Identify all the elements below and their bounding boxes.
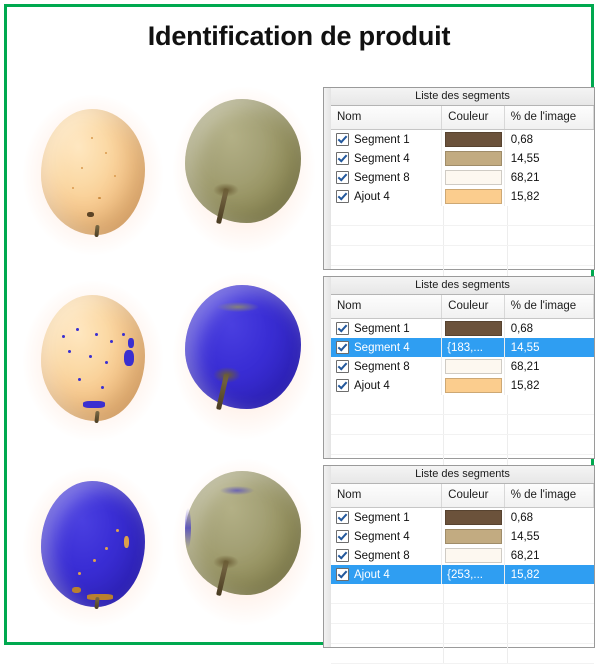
- color-swatch: [445, 132, 502, 147]
- row-name-cell: Segment 8: [331, 546, 442, 565]
- page-title: Identification de produit: [7, 21, 591, 52]
- table-empty-area: [331, 395, 594, 475]
- row-color-cell[interactable]: [442, 376, 505, 395]
- column-header-name[interactable]: Nom: [331, 484, 442, 507]
- residual-speck: [116, 529, 119, 532]
- panel-1[interactable]: Liste des segments Nom Couleur % de l'im…: [323, 87, 595, 270]
- color-value-text: {253,...: [442, 569, 483, 581]
- empty-row: [331, 395, 594, 415]
- blue-edge-patch: [185, 508, 191, 548]
- fruit-stage: [15, 79, 315, 265]
- row-percent-cell: 15,82: [505, 376, 594, 395]
- checkbox-checked-icon[interactable]: [336, 171, 349, 184]
- empty-row: [331, 584, 594, 604]
- color-swatch: [445, 359, 502, 374]
- apple-speck: [114, 175, 116, 177]
- row-percent-cell: 0,68: [505, 130, 594, 149]
- percent-value: 68,21: [505, 172, 540, 184]
- row-color-cell[interactable]: [442, 319, 505, 338]
- percent-value: 0,68: [505, 323, 533, 335]
- color-value-text: {183,...: [442, 342, 483, 354]
- row-name-cell: Segment 1: [331, 508, 442, 527]
- blue-speck: [220, 486, 254, 495]
- empty-row: [331, 624, 594, 644]
- segment-name: Ajout 4: [354, 380, 390, 392]
- percent-value: 68,21: [505, 361, 540, 373]
- segmentation-image-column: [15, 79, 315, 637]
- column-header-color[interactable]: Couleur: [442, 484, 505, 507]
- apple-speck: [81, 167, 83, 169]
- color-swatch: [445, 151, 502, 166]
- table-header: Nom Couleur % de l'image: [331, 295, 594, 319]
- table-row[interactable]: Segment 414,55: [331, 149, 594, 168]
- color-swatch: [445, 529, 502, 544]
- panel-title-2: Liste des segments: [331, 277, 594, 295]
- percent-value: 0,68: [505, 512, 533, 524]
- column-header-percent[interactable]: % de l'image: [505, 484, 594, 507]
- percent-value: 14,55: [505, 531, 540, 543]
- row-name-cell: Segment 4: [331, 527, 442, 546]
- olive-apple-highlighted: [185, 285, 301, 409]
- color-swatch: [445, 321, 502, 336]
- percent-value: 15,82: [505, 569, 540, 581]
- percent-value: 0,68: [505, 134, 533, 146]
- table-row[interactable]: Segment 10,68: [331, 319, 594, 338]
- row-name-cell: Segment 4: [331, 338, 442, 357]
- golden-apple: [41, 295, 145, 421]
- segment-list-panels: Liste des segments Nom Couleur % de l'im…: [323, 87, 595, 654]
- checkbox-checked-icon[interactable]: [336, 568, 349, 581]
- row-percent-cell: 68,21: [505, 357, 594, 376]
- color-swatch: [445, 170, 502, 185]
- segment-table-3[interactable]: Nom Couleur % de l'image Segment 10,68Se…: [331, 484, 594, 647]
- table-row[interactable]: Segment 868,21: [331, 357, 594, 376]
- row-percent-cell: 14,55: [505, 338, 594, 357]
- row-name-cell: Segment 4: [331, 149, 442, 168]
- green-bordered-frame: Identification de produit: [4, 4, 594, 645]
- blue-speck: [122, 333, 125, 336]
- row-name-cell: Segment 1: [331, 130, 442, 149]
- empty-row: [331, 206, 594, 226]
- empty-row: [331, 226, 594, 246]
- column-header-color[interactable]: Couleur: [442, 295, 505, 318]
- row-color-cell[interactable]: [442, 527, 505, 546]
- table-header: Nom Couleur % de l'image: [331, 484, 594, 508]
- checkbox-checked-icon[interactable]: [336, 379, 349, 392]
- column-header-percent[interactable]: % de l'image: [505, 106, 594, 129]
- stem-cavity: [213, 367, 241, 383]
- fruit-stage: [15, 451, 315, 637]
- table-header: Nom Couleur % de l'image: [331, 106, 594, 130]
- color-swatch: [445, 378, 502, 393]
- row-percent-cell: 15,82: [505, 565, 594, 584]
- checkbox-checked-icon[interactable]: [336, 530, 349, 543]
- table-body: Segment 10,68Segment 4{183,...14,55Segme…: [331, 319, 594, 395]
- row-name-cell: Ajout 4: [331, 187, 442, 206]
- empty-row: [331, 415, 594, 435]
- apple-speck: [91, 137, 93, 139]
- blue-speck: [95, 333, 98, 336]
- panel-2[interactable]: Liste des segments Nom Couleur % de l'im…: [323, 276, 595, 459]
- row-color-cell[interactable]: [442, 149, 505, 168]
- image-row-2[interactable]: [15, 265, 315, 451]
- apple-body: [185, 99, 301, 223]
- checkbox-checked-icon[interactable]: [336, 322, 349, 335]
- olive-apple: [185, 99, 301, 223]
- row-color-cell[interactable]: [442, 357, 505, 376]
- table-row[interactable]: Segment 868,21: [331, 546, 594, 565]
- color-swatch: [445, 548, 502, 563]
- checkbox-checked-icon[interactable]: [336, 133, 349, 146]
- row-name-cell: Segment 1: [331, 319, 442, 338]
- row-color-cell[interactable]: [442, 508, 505, 527]
- empty-row: [331, 644, 594, 664]
- panel-title-1: Liste des segments: [331, 88, 594, 106]
- apple-blemish: [87, 212, 94, 217]
- row-color-cell[interactable]: [442, 168, 505, 187]
- row-name-cell: Segment 8: [331, 168, 442, 187]
- row-color-cell[interactable]: [442, 546, 505, 565]
- table-row[interactable]: Ajout 415,82: [331, 376, 594, 395]
- row-percent-cell: 0,68: [505, 319, 594, 338]
- checkbox-checked-icon[interactable]: [336, 549, 349, 562]
- color-swatch: [445, 510, 502, 525]
- percent-value: 14,55: [505, 342, 540, 354]
- table-empty-area: [331, 206, 594, 286]
- panel-3[interactable]: Liste des segments Nom Couleur % de l'im…: [323, 465, 595, 648]
- segment-table-2[interactable]: Nom Couleur % de l'image Segment 10,68Se…: [331, 295, 594, 458]
- row-color-cell[interactable]: [442, 130, 505, 149]
- table-body: Segment 10,68Segment 414,55Segment 868,2…: [331, 130, 594, 206]
- segment-name: Segment 1: [354, 134, 410, 146]
- row-color-cell[interactable]: {183,...: [442, 338, 505, 357]
- percent-value: 14,55: [505, 153, 540, 165]
- row-color-cell[interactable]: [442, 187, 505, 206]
- segment-name: Ajout 4: [354, 191, 390, 203]
- empty-row: [331, 435, 594, 455]
- row-percent-cell: 14,55: [505, 149, 594, 168]
- checkbox-checked-icon[interactable]: [336, 341, 349, 354]
- percent-value: 15,82: [505, 191, 540, 203]
- table-body: Segment 10,68Segment 414,55Segment 868,2…: [331, 508, 594, 584]
- table-row[interactable]: Segment 4{183,...14,55: [331, 338, 594, 357]
- golden-apple: [41, 109, 145, 235]
- row-name-cell: Segment 8: [331, 357, 442, 376]
- checkbox-checked-icon[interactable]: [336, 360, 349, 373]
- row-percent-cell: 68,21: [505, 168, 594, 187]
- table-row[interactable]: Ajout 4{253,...15,82: [331, 565, 594, 584]
- segment-name: Segment 8: [354, 172, 410, 184]
- checkbox-checked-icon[interactable]: [336, 190, 349, 203]
- column-header-percent[interactable]: % de l'image: [505, 295, 594, 318]
- segment-name: Segment 4: [354, 531, 410, 543]
- row-percent-cell: 0,68: [505, 508, 594, 527]
- residual-edge: [87, 594, 113, 600]
- segment-name: Segment 8: [354, 550, 410, 562]
- column-header-color[interactable]: Couleur: [442, 106, 505, 129]
- image-row-1[interactable]: [15, 79, 315, 265]
- percent-value: 15,82: [505, 380, 540, 392]
- blue-edge-patch: [128, 338, 134, 348]
- segment-name: Segment 4: [354, 153, 410, 165]
- segment-name: Ajout 4: [354, 569, 390, 581]
- blue-edge-patch: [124, 350, 134, 366]
- checkbox-checked-icon[interactable]: [336, 511, 349, 524]
- row-color-cell[interactable]: {253,...: [442, 565, 505, 584]
- segment-name: Segment 1: [354, 323, 410, 335]
- panel-title-3: Liste des segments: [331, 466, 594, 484]
- image-row-3[interactable]: [15, 451, 315, 637]
- row-name-cell: Ajout 4: [331, 376, 442, 395]
- fruit-stage: [15, 265, 315, 451]
- segment-name: Segment 1: [354, 512, 410, 524]
- table-row[interactable]: Ajout 415,82: [331, 187, 594, 206]
- row-percent-cell: 68,21: [505, 546, 594, 565]
- table-row[interactable]: Segment 414,55: [331, 527, 594, 546]
- segment-name: Segment 8: [354, 361, 410, 373]
- color-swatch: [445, 189, 502, 204]
- empty-row: [331, 246, 594, 266]
- golden-apple-highlighted: [41, 481, 145, 607]
- apple-body: [41, 481, 145, 607]
- column-header-name[interactable]: Nom: [331, 295, 442, 318]
- empty-row: [331, 604, 594, 624]
- column-header-name[interactable]: Nom: [331, 106, 442, 129]
- segment-table-1[interactable]: Nom Couleur % de l'image Segment 10,68Se…: [331, 106, 594, 269]
- checkbox-checked-icon[interactable]: [336, 152, 349, 165]
- olive-apple: [185, 471, 301, 595]
- row-percent-cell: 14,55: [505, 527, 594, 546]
- table-row[interactable]: Segment 10,68: [331, 130, 594, 149]
- table-row[interactable]: Segment 10,68: [331, 508, 594, 527]
- table-row[interactable]: Segment 868,21: [331, 168, 594, 187]
- row-percent-cell: 15,82: [505, 187, 594, 206]
- table-empty-area: [331, 584, 594, 664]
- row-name-cell: Ajout 4: [331, 565, 442, 584]
- segment-name: Segment 4: [354, 342, 410, 354]
- blue-edge-patch: [83, 401, 105, 408]
- residual-blemish: [72, 587, 81, 593]
- percent-value: 68,21: [505, 550, 540, 562]
